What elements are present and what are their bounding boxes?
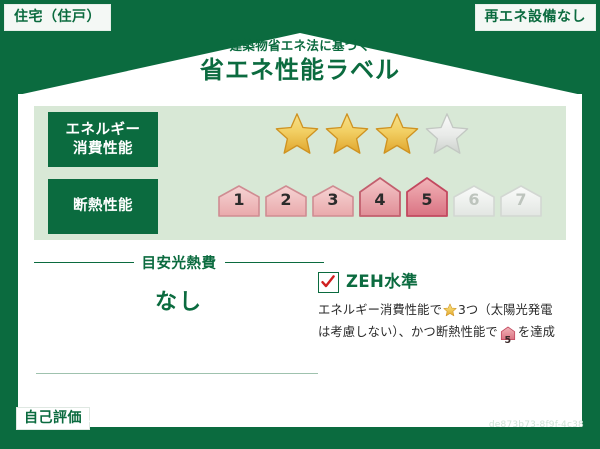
insulation-grade-inline: 5 [500, 326, 516, 346]
rule-right [225, 262, 325, 263]
zeh-desc-part3: を達成 [518, 325, 555, 339]
grade-number-inline: 5 [500, 336, 516, 346]
insulation-grade-3: 3 [311, 183, 355, 217]
insulation-grade-5: 5 [405, 175, 449, 217]
renewable-equipment-tag: 再エネ設備なし [475, 4, 597, 31]
star-icon-filled-1 [274, 111, 320, 157]
utility-cost-underline [36, 373, 318, 374]
roof-shape [18, 33, 582, 95]
star-icon-empty-4 [424, 111, 470, 157]
grade-number: 7 [499, 192, 543, 208]
star-icon-filled-3 [374, 111, 420, 157]
insulation-performance-label-box: 断熱性能 [48, 179, 158, 234]
performance-block: エネルギー 消費性能 [34, 106, 566, 240]
star-icon-filled-2 [324, 111, 370, 157]
grade-number: 4 [358, 192, 402, 208]
energy-label-line1: エネルギー [66, 121, 141, 139]
property-address: ハートフルタウン 茅ヶ崎市柳島1丁目689番(鷺沼) A号棟 [88, 411, 360, 426]
zeh-desc-part1: エネルギー消費性能で [318, 303, 442, 317]
grade-number: 3 [311, 192, 355, 208]
grade-number: 6 [452, 192, 496, 208]
body-panel: エネルギー 消費性能 [18, 94, 582, 427]
footer: 自己評価 ハートフルタウン 茅ヶ崎市柳島1丁目689番(鷺沼) A号棟 評価日 … [0, 430, 600, 449]
insulation-grade-1: 1 [217, 183, 261, 217]
zeh-checkbox [318, 272, 339, 293]
grade-number: 2 [264, 192, 308, 208]
insulation-grade-scale: 1 2 3 [217, 175, 543, 217]
rule-left [34, 262, 134, 263]
check-icon [321, 275, 335, 289]
star-rating [274, 111, 470, 157]
star-icon-inline [443, 303, 457, 323]
zeh-desc-stars: 3つ（太陽光発電 [458, 303, 553, 317]
zeh-description: エネルギー消費性能で 3つ（太陽光発電 は考慮しない）、かつ断熱性能で 5 を達… [318, 301, 568, 346]
utility-cost-heading-text: 目安光熱費 [142, 252, 217, 273]
grade-number: 5 [405, 192, 449, 208]
zeh-label: ZEH水準 [346, 274, 418, 291]
zeh-title-row: ZEH水準 [318, 272, 568, 293]
insulation-grade-2: 2 [264, 183, 308, 217]
self-evaluation-badge: 自己評価 [16, 407, 90, 430]
insulation-grade-7: 7 [499, 183, 543, 217]
zeh-desc-part2: は考慮しない）、かつ断熱性能で [318, 325, 498, 339]
energy-label-line2: 消費性能 [73, 140, 133, 158]
insulation-performance-row: 断熱性能 1 2 [34, 173, 566, 240]
energy-performance-label-box: エネルギー 消費性能 [48, 112, 158, 167]
building-type-tag: 住宅（住戸） [4, 4, 111, 31]
grade-number: 1 [217, 192, 261, 208]
energy-performance-row: エネルギー 消費性能 [34, 106, 566, 173]
zeh-standard-block: ZEH水準 エネルギー消費性能で 3つ（太陽光発電 は考慮しない）、かつ断熱性能… [318, 272, 568, 346]
evaluation-id: de873b73-8f9f-4c38 [489, 420, 584, 430]
energy-performance-label: 住宅（住戸） 再エネ設備なし 建築物省エネ法に基づく 省エネ性能ラベル エネルギ… [0, 0, 600, 449]
utility-cost-heading: 目安光熱費 [34, 252, 324, 273]
insulation-grade-4: 4 [358, 175, 402, 217]
insulation-grade-6: 6 [452, 183, 496, 217]
utility-cost-value: なし [34, 284, 324, 316]
insulation-label-line1: 断熱性能 [73, 197, 133, 215]
